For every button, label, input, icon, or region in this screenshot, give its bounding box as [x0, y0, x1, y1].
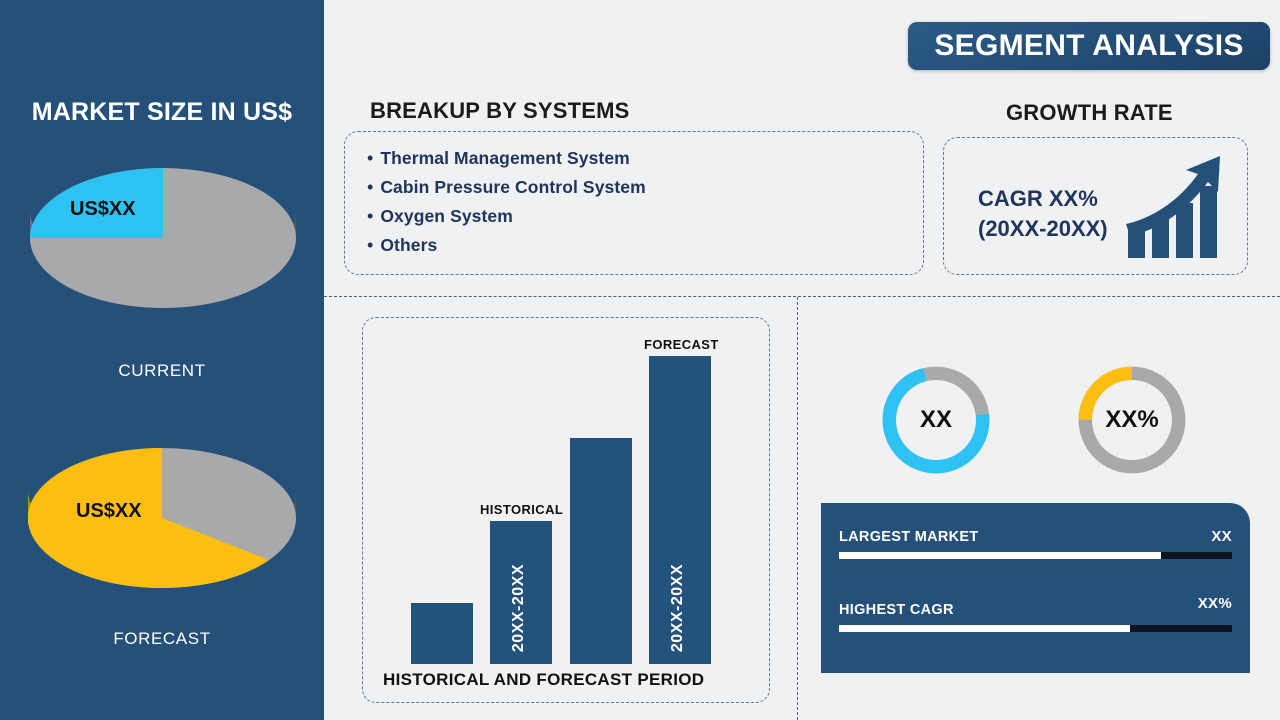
page-title-text: SEGMENT ANALYSIS [934, 29, 1243, 63]
period-bar-chart-card: 20XX-20XX HISTORICAL 20XX-20XX FORECAST … [362, 317, 770, 703]
key-stats-panel: LARGEST MARKET XX HIGHEST CAGR XX% [821, 503, 1250, 673]
volume-donut-value: XX [920, 406, 952, 434]
current-market-size-pie: US$XX [30, 160, 296, 340]
page-title: SEGMENT ANALYSIS [908, 22, 1270, 70]
list-item: • Thermal Management System [367, 146, 646, 170]
forecast-pie-caption: FORECAST [0, 629, 324, 649]
largest-market-label: LARGEST MARKET [839, 529, 979, 545]
bar-4: 20XX-20XX [649, 356, 711, 664]
volume-donut: XX [877, 361, 995, 479]
growth-rate-heading: GROWTH RATE [1006, 100, 1173, 126]
forecast-pie-svg [28, 440, 296, 620]
highest-cagr-fill [839, 625, 1130, 632]
growth-arrow-chart-icon [1122, 150, 1227, 260]
bar-1 [411, 603, 473, 664]
header: SEGMENT ANALYSIS imarc IMPACTFUL INSIGHT… [324, 0, 1280, 92]
bar-2: 20XX-20XX [490, 521, 552, 664]
horizontal-divider [324, 296, 1280, 297]
list-item: • Cabin Pressure Control System [367, 175, 646, 199]
breakup-item-label: Oxygen System [380, 204, 513, 228]
largest-market-fill [839, 552, 1161, 559]
growth-rate-card: CAGR XX% (20XX-20XX) [943, 137, 1248, 275]
bullet-icon: • [367, 146, 373, 170]
list-item: • Others [367, 233, 646, 257]
stat-row-highest-cagr: HIGHEST CAGR XX% [839, 598, 1232, 630]
share-donut-value: XX% [1105, 406, 1158, 434]
current-pie-caption: CURRENT [0, 361, 324, 381]
largest-market-track [839, 552, 1232, 559]
forecast-annotation: FORECAST [644, 337, 719, 352]
forecast-market-size-pie: US$XX [28, 440, 296, 620]
highest-cagr-label: HIGHEST CAGR [839, 602, 954, 618]
share-donut-center: XX% [1092, 380, 1172, 460]
bullet-icon: • [367, 175, 373, 199]
cagr-text: CAGR XX% (20XX-20XX) [978, 184, 1108, 244]
list-item: • Oxygen System [367, 204, 646, 228]
bullet-icon: • [367, 233, 373, 257]
breakup-item-label: Others [380, 233, 437, 257]
bar-chart-axis-label: HISTORICAL AND FORECAST PERIOD [383, 670, 704, 690]
breakup-heading: BREAKUP BY SYSTEMS [370, 98, 630, 124]
largest-market-value: XX [1211, 528, 1232, 545]
breakup-item-label: Cabin Pressure Control System [380, 175, 645, 199]
cagr-line-2: (20XX-20XX) [978, 214, 1108, 244]
market-size-panel: MARKET SIZE IN US$ [0, 0, 324, 720]
infographic-root: MARKET SIZE IN US$ [0, 0, 1280, 720]
market-size-title: MARKET SIZE IN US$ [0, 98, 324, 127]
bar-4-label: 20XX-20XX [669, 564, 687, 652]
share-donut: XX% [1073, 361, 1191, 479]
bar-2-label: 20XX-20XX [510, 564, 528, 652]
cagr-line-1: CAGR XX% [978, 184, 1108, 214]
highest-cagr-track [839, 625, 1232, 632]
volume-donut-center: XX [896, 380, 976, 460]
breakup-list: • Thermal Management System • Cabin Pres… [367, 146, 646, 262]
current-pie-svg [30, 160, 296, 340]
vertical-divider [797, 297, 798, 720]
breakup-item-label: Thermal Management System [380, 146, 630, 170]
stat-row-largest-market: LARGEST MARKET XX [839, 529, 1232, 561]
highest-cagr-value: XX% [1198, 595, 1232, 612]
bullet-icon: • [367, 204, 373, 228]
breakup-card: • Thermal Management System • Cabin Pres… [344, 131, 924, 275]
current-pie-value: US$XX [70, 198, 136, 221]
historical-annotation: HISTORICAL [480, 502, 563, 517]
forecast-pie-value: US$XX [76, 500, 142, 523]
bar-3 [570, 438, 632, 664]
